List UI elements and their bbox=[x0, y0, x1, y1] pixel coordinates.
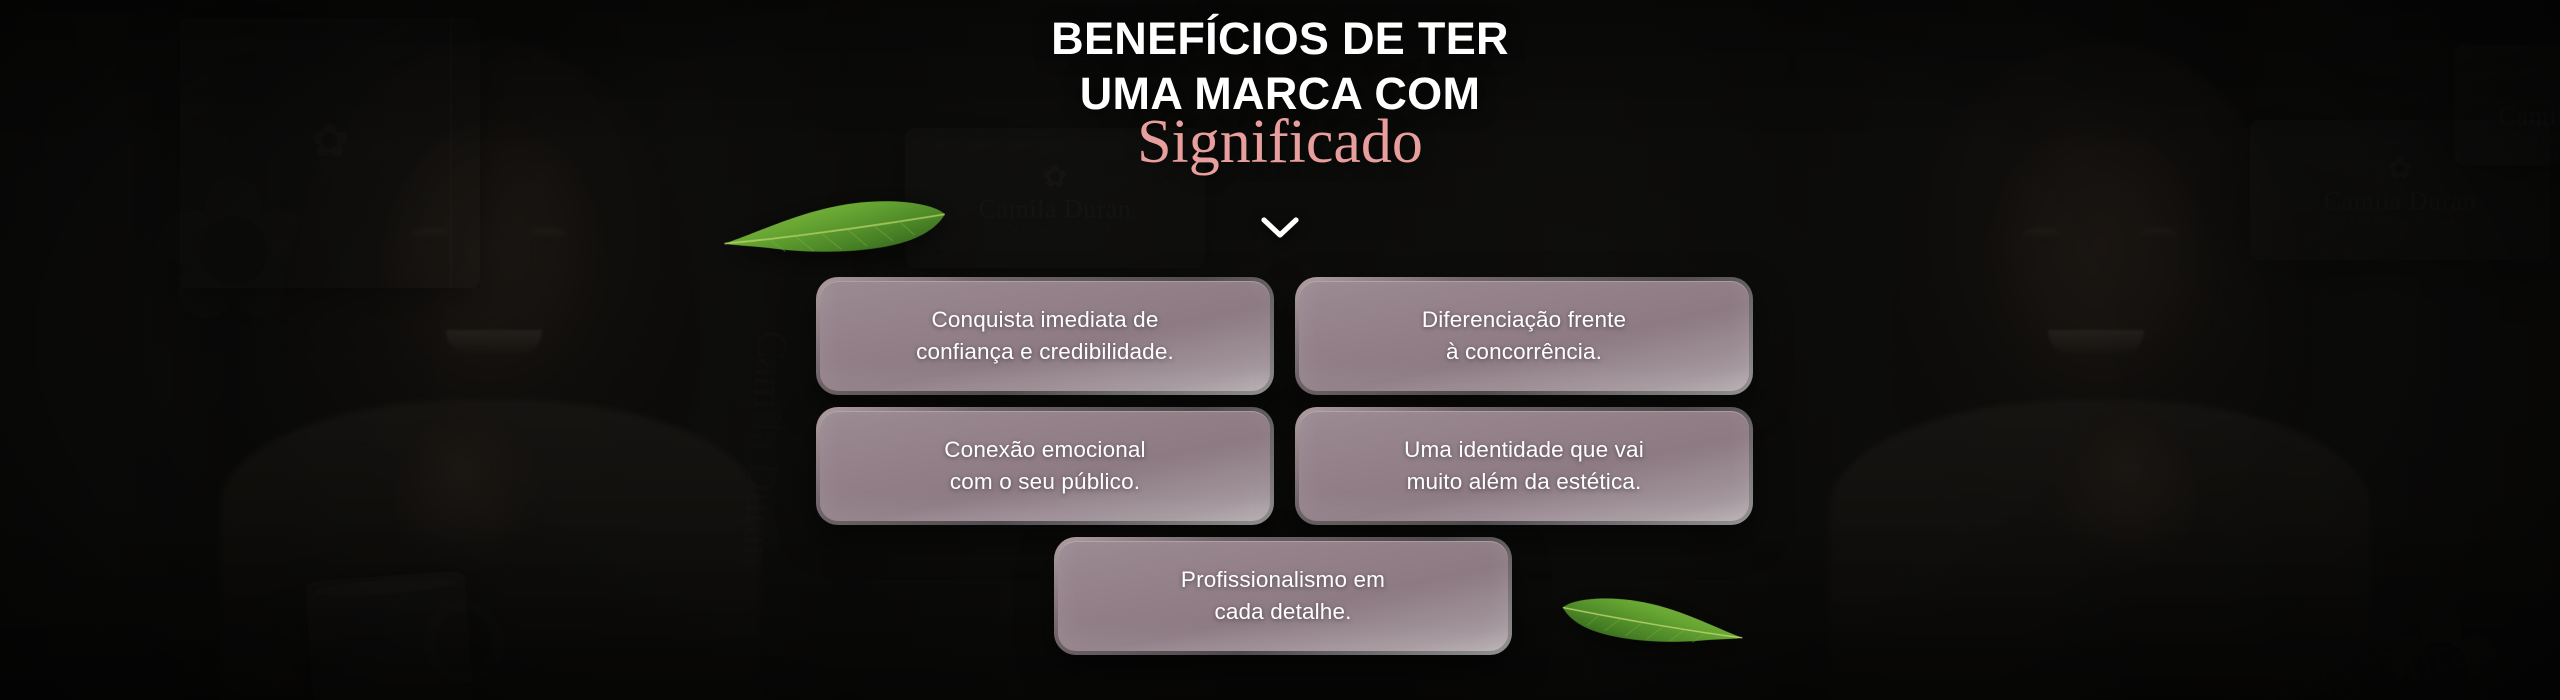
benefit-card[interactable]: Conquista imediata de confiança e credib… bbox=[816, 277, 1274, 395]
benefit-card-inner: Uma identidade que vai muito além da est… bbox=[1299, 411, 1749, 521]
benefit-card[interactable]: Conexão emocional com o seu público. bbox=[816, 407, 1274, 525]
section-content: BENEFÍCIOS DE TER UMA MARCA COM Signific… bbox=[0, 0, 2560, 700]
benefit-card-label: Uma identidade que vai muito além da est… bbox=[1390, 434, 1658, 498]
benefit-card-inner: Conexão emocional com o seu público. bbox=[820, 411, 1270, 521]
benefit-card-label: Conquista imediata de confiança e credib… bbox=[902, 304, 1188, 368]
benefit-card[interactable]: Uma identidade que vai muito além da est… bbox=[1295, 407, 1753, 525]
benefit-card[interactable]: Profissionalismo em cada detalhe. bbox=[1054, 537, 1512, 655]
benefits-card-grid: Conquista imediata de confiança e credib… bbox=[0, 0, 2560, 700]
benefits-section: ✿ ✿ ✿ ✿ ✿ Camila Duran bbox=[0, 0, 2560, 700]
benefit-card-inner: Conquista imediata de confiança e credib… bbox=[820, 281, 1270, 391]
benefit-card-label: Profissionalismo em cada detalhe. bbox=[1167, 564, 1399, 628]
benefit-card-inner: Diferenciação frente à concorrência. bbox=[1299, 281, 1749, 391]
benefit-card-label: Diferenciação frente à concorrência. bbox=[1408, 304, 1640, 368]
benefit-card-inner: Profissionalismo em cada detalhe. bbox=[1058, 541, 1508, 651]
benefit-card-label: Conexão emocional com o seu público. bbox=[930, 434, 1159, 498]
benefit-card[interactable]: Diferenciação frente à concorrência. bbox=[1295, 277, 1753, 395]
